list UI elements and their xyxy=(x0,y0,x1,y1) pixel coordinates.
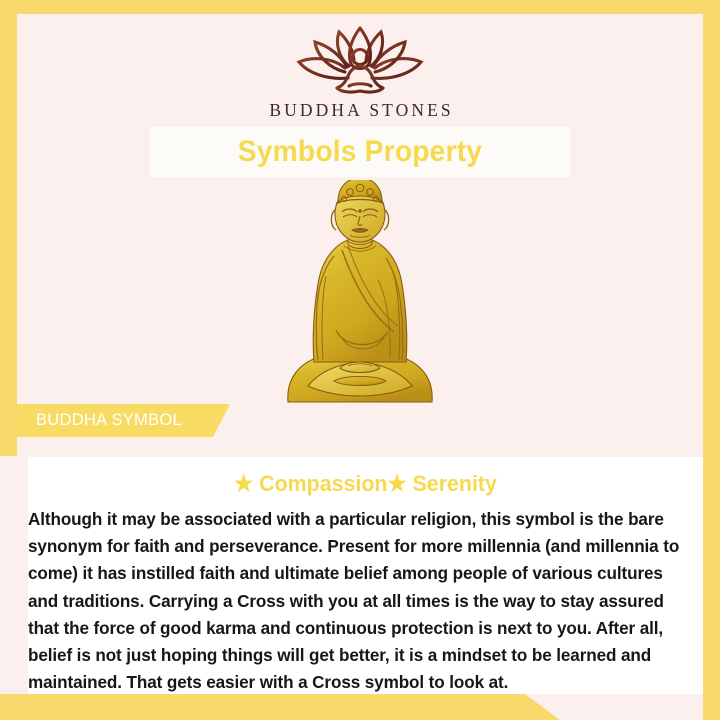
brand-name: BUDDHA STONES xyxy=(0,100,720,121)
buddha-symbol-ribbon: BUDDHA SYMBOL xyxy=(17,404,230,437)
bottom-accent-band xyxy=(0,694,560,720)
page-title: Symbols Property xyxy=(238,135,482,169)
poster-canvas: BUDDHA STONES Symbols Property xyxy=(0,0,720,720)
content-paragraph: Although it may be associated with a par… xyxy=(28,506,693,696)
ribbon-label: BUDDHA SYMBOL xyxy=(36,411,182,430)
content-card: ★ Compassion★ Serenity Although it may b… xyxy=(28,457,703,694)
content-subtitle: ★ Compassion★ Serenity xyxy=(45,471,686,497)
seated-buddha-statue-image xyxy=(278,180,442,412)
brand-logo-block: BUDDHA STONES xyxy=(0,22,720,121)
lotus-meditation-icon xyxy=(0,22,720,94)
title-band: Symbols Property xyxy=(150,127,570,177)
